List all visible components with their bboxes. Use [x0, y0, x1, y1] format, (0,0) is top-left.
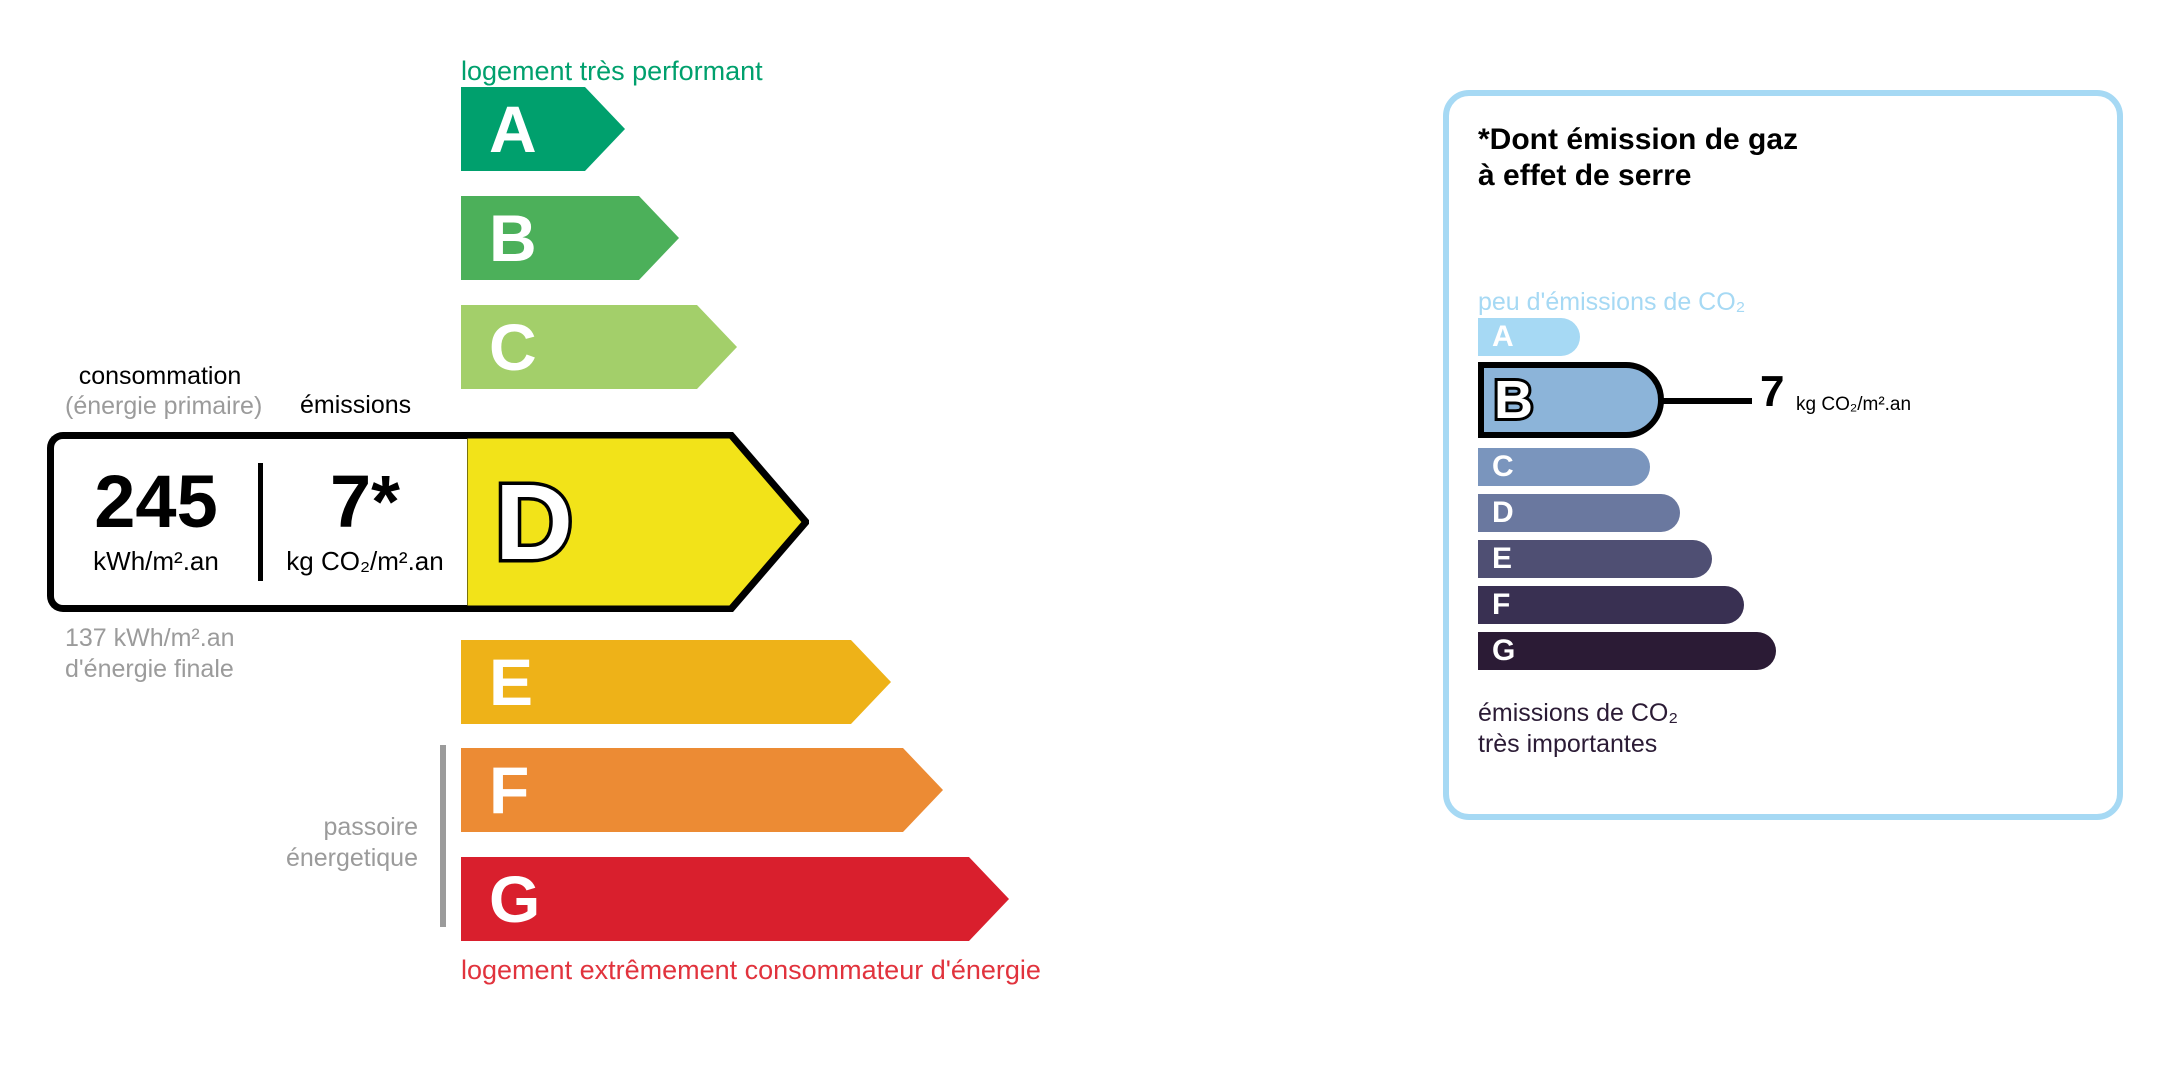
- co2-class-row-d[interactable]: D: [1478, 494, 1680, 532]
- energy-arrow-d: [461, 432, 809, 612]
- co2-panel-title: *Dont émission de gaz à effet de serre: [1478, 122, 1798, 194]
- energy-class-row-b[interactable]: B: [461, 196, 679, 280]
- energy-arrow-b: [461, 196, 679, 280]
- consumption-heading-sub: (énergie primaire): [65, 392, 255, 422]
- co2-class-letter-e: E: [1492, 544, 1512, 574]
- energy-arrow-g: [461, 857, 1009, 941]
- energy-class-row-a[interactable]: A: [461, 87, 625, 171]
- co2-class-letter-f: F: [1492, 590, 1510, 620]
- co2-class-letter-d: D: [1492, 498, 1514, 528]
- energy-class-row-d-selected[interactable]: D: [461, 432, 809, 612]
- co2-class-row-c[interactable]: C: [1478, 448, 1650, 486]
- co2-emissions-panel: *Dont émission de gaz à effet de serre p…: [1443, 90, 2123, 820]
- co2-bar-f: [1478, 586, 1744, 624]
- energy-class-row-f[interactable]: F: [461, 748, 943, 832]
- co2-worst-label: émissions de CO₂ très importantes: [1478, 698, 1678, 759]
- co2-class-letter-c: C: [1492, 452, 1514, 482]
- emission-value-cell: 7* kg CO₂/m².an: [263, 467, 467, 576]
- final-energy-note: 137 kWh/m².an d'énergie finale: [65, 623, 235, 686]
- energy-arrow-e: [461, 640, 891, 724]
- energy-value-box: 245 kWh/m².an 7* kg CO₂/m².an: [47, 432, 467, 612]
- co2-bar-g: [1478, 632, 1776, 670]
- passoire-label-line1: passoire: [200, 812, 418, 843]
- co2-title-line1: *Dont émission de gaz: [1478, 122, 1798, 158]
- co2-value-unit: kg CO₂/m².an: [1796, 394, 1911, 416]
- energy-class-row-c[interactable]: C: [461, 305, 737, 389]
- co2-title-line2: à effet de serre: [1478, 158, 1798, 194]
- energy-arrow-a: [461, 87, 625, 171]
- co2-value: 7: [1760, 370, 1784, 414]
- emission-value: 7*: [263, 467, 467, 537]
- co2-class-row-g[interactable]: G: [1478, 632, 1776, 670]
- consumption-unit: kWh/m².an: [54, 546, 258, 577]
- consumption-heading: consommation (énergie primaire): [65, 362, 255, 421]
- energy-class-row-g[interactable]: G: [461, 857, 1009, 941]
- co2-worst-label-line2: très importantes: [1478, 729, 1678, 760]
- emission-unit: kg CO₂/m².an: [263, 546, 467, 577]
- final-energy-label: d'énergie finale: [65, 654, 235, 685]
- co2-class-row-a[interactable]: A: [1478, 318, 1580, 356]
- consumption-value-cell: 245 kWh/m².an: [54, 467, 258, 576]
- energy-performance-chart: logement très performant A B C D E: [0, 0, 1400, 1079]
- final-energy-value: 137 kWh/m².an: [65, 623, 235, 654]
- consumption-value: 245: [54, 467, 258, 537]
- co2-best-label: peu d'émissions de CO₂: [1478, 288, 1745, 317]
- energy-arrow-f: [461, 748, 943, 832]
- co2-class-row-f[interactable]: F: [1478, 586, 1744, 624]
- co2-class-letter-b: B: [1494, 373, 1533, 427]
- co2-leader-line: [1658, 398, 1752, 404]
- passoire-label-line2: énergetique: [200, 843, 418, 874]
- passoire-bracket: [440, 745, 446, 927]
- co2-class-row-e[interactable]: E: [1478, 540, 1712, 578]
- energy-arrow-c: [461, 305, 737, 389]
- energy-best-label: logement très performant: [461, 56, 763, 87]
- energy-worst-label: logement extrêmement consommateur d'éner…: [461, 955, 1041, 986]
- emission-heading: émissions: [300, 391, 411, 420]
- co2-bar-e: [1478, 540, 1712, 578]
- consumption-heading-main: consommation: [79, 362, 242, 390]
- energy-class-row-e[interactable]: E: [461, 640, 891, 724]
- co2-class-row-b-selected[interactable]: B 7 kg CO₂/m².an: [1478, 362, 1664, 438]
- passoire-label: passoire énergetique: [200, 812, 418, 875]
- co2-worst-label-line1: émissions de CO₂: [1478, 698, 1678, 729]
- co2-class-letter-g: G: [1492, 636, 1515, 666]
- co2-class-letter-a: A: [1492, 322, 1514, 352]
